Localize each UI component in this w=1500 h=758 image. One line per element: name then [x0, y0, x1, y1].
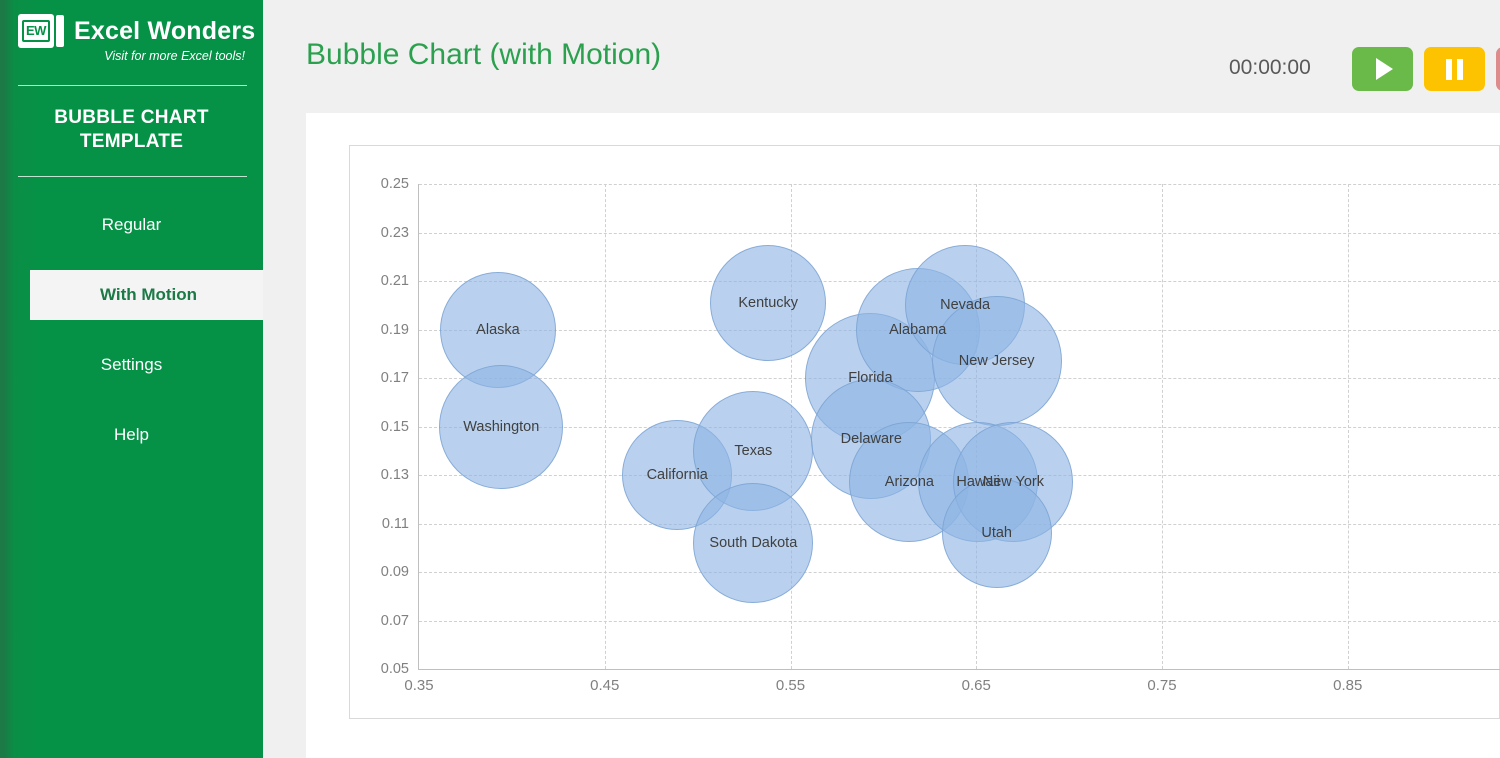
play-icon — [1376, 58, 1393, 80]
logo-ew-text: EW — [22, 20, 50, 42]
sidebar-item-label: Settings — [101, 355, 162, 375]
y-axis-tick-label: 0.17 — [381, 370, 409, 386]
y-gridline — [419, 184, 1500, 185]
x-gridline — [1348, 184, 1349, 669]
y-gridline — [419, 233, 1500, 234]
pause-button[interactable] — [1424, 47, 1485, 91]
sidebar-gap-strip — [263, 0, 306, 758]
excel-wonders-logo-icon: EW — [18, 14, 64, 48]
main-area: Bubble Chart (with Motion) 00:00:00 0.05… — [306, 0, 1500, 758]
sidebar: EW Excel Wonders Visit for more Excel to… — [0, 0, 263, 758]
y-axis-tick-label: 0.23 — [381, 225, 409, 241]
sidebar-divider-top — [18, 85, 247, 86]
sidebar-item-label: With Motion — [100, 285, 197, 305]
y-axis-tick-label: 0.07 — [381, 613, 409, 629]
x-axis-tick-label: 0.75 — [1147, 677, 1176, 694]
x-axis-tick-label: 0.65 — [962, 677, 991, 694]
motion-timer: 00:00:00 — [1229, 56, 1311, 80]
bubble-washington[interactable] — [439, 365, 563, 489]
template-title: BUBBLE CHART TEMPLATE — [0, 106, 263, 154]
sidebar-item-label: Help — [114, 425, 149, 445]
y-gridline — [419, 621, 1500, 622]
y-axis-tick-label: 0.11 — [382, 516, 409, 532]
x-axis-tick-label: 0.85 — [1333, 677, 1362, 694]
sidebar-nav: Regular With Motion Settings Help — [0, 200, 263, 460]
sidebar-item-label: Regular — [102, 215, 162, 235]
x-axis-tick-label: 0.35 — [404, 677, 433, 694]
x-axis-tick-label: 0.45 — [590, 677, 619, 694]
app-root: EW Excel Wonders Visit for more Excel to… — [0, 0, 1500, 758]
logo-tab-shape — [56, 15, 64, 47]
bubble-south-dakota[interactable] — [693, 483, 813, 603]
sidebar-item-help[interactable]: Help — [0, 410, 263, 460]
y-axis-tick-label: 0.13 — [381, 467, 409, 483]
brand-logo[interactable]: EW Excel Wonders — [0, 0, 263, 48]
bubble-utah[interactable] — [942, 478, 1052, 588]
y-axis-tick-label: 0.15 — [381, 419, 409, 435]
sidebar-item-regular[interactable]: Regular — [0, 200, 263, 250]
x-axis-tick-label: 0.55 — [776, 677, 805, 694]
x-gridline — [1162, 184, 1163, 669]
chart-container: 0.050.070.090.110.130.150.170.190.210.23… — [349, 145, 1500, 719]
pause-icon — [1446, 59, 1463, 80]
sidebar-item-with-motion[interactable]: With Motion — [30, 270, 267, 320]
x-gridline — [605, 184, 606, 669]
play-button[interactable] — [1352, 47, 1413, 91]
bubble-chart-plot-area[interactable]: 0.050.070.090.110.130.150.170.190.210.23… — [418, 184, 1500, 670]
brand-tagline: Visit for more Excel tools! — [0, 49, 263, 63]
y-axis-tick-label: 0.09 — [381, 564, 409, 580]
sidebar-item-settings[interactable]: Settings — [0, 340, 263, 390]
stop-button[interactable] — [1496, 47, 1500, 91]
bubble-kentucky[interactable] — [710, 245, 826, 361]
content-panel: 0.050.070.090.110.130.150.170.190.210.23… — [306, 113, 1500, 758]
page-header: Bubble Chart (with Motion) 00:00:00 — [306, 0, 1500, 113]
y-axis-tick-label: 0.21 — [381, 273, 409, 289]
y-axis-tick-label: 0.25 — [381, 176, 409, 192]
y-axis-tick-label: 0.05 — [381, 661, 409, 677]
brand-name: Excel Wonders — [74, 17, 255, 46]
sidebar-divider-bottom — [18, 176, 247, 177]
y-axis-tick-label: 0.19 — [381, 322, 409, 338]
page-title: Bubble Chart (with Motion) — [306, 38, 661, 72]
bubble-new-jersey[interactable] — [932, 296, 1062, 426]
